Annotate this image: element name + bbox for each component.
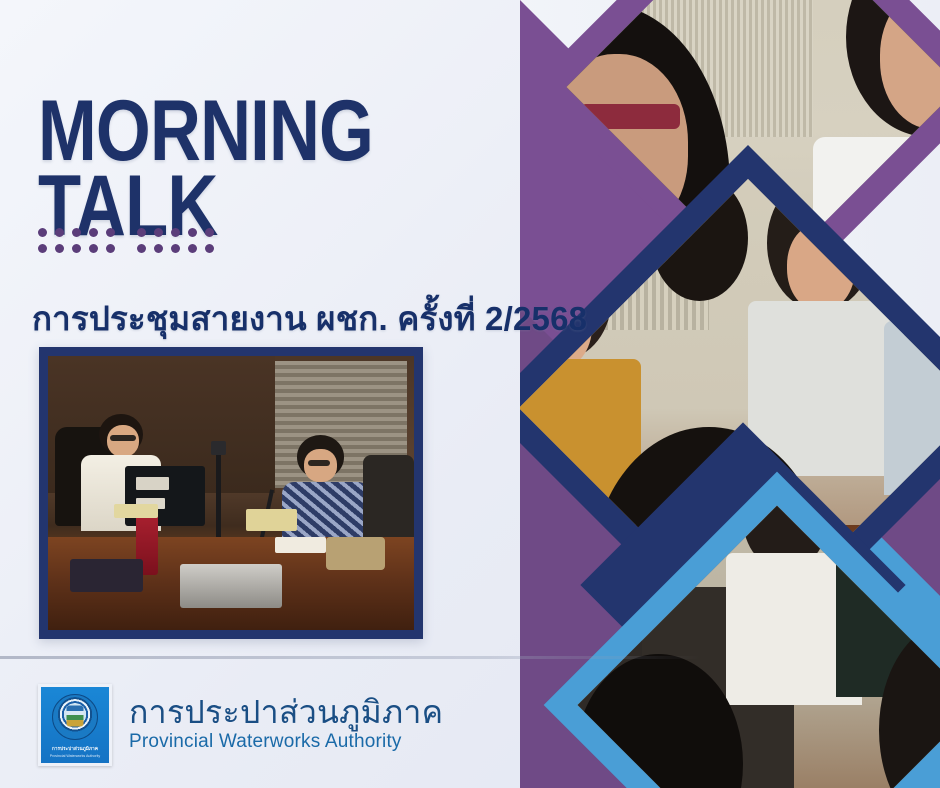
dot xyxy=(55,228,64,237)
photo-collage-panel xyxy=(520,0,940,788)
brand-name-english: Provincial Waterworks Authority xyxy=(129,730,443,754)
page-title: MORNING TALK xyxy=(38,18,373,321)
brand-text-block: การประปาส่วนภูมิภาค Provincial Waterwork… xyxy=(129,696,443,753)
dot xyxy=(38,244,47,253)
pwa-logo-icon: การประปาส่วนภูมิภาค Provincial Waterwork… xyxy=(38,684,112,766)
pwa-seal-icon xyxy=(52,694,98,740)
dot xyxy=(154,228,163,237)
main-photo xyxy=(48,356,414,630)
footer-branding: การประปาส่วนภูมิภาค Provincial Waterwork… xyxy=(38,684,443,766)
dot xyxy=(72,228,81,237)
footer-divider xyxy=(0,656,700,659)
dot xyxy=(137,244,146,253)
dot xyxy=(106,244,115,253)
dot-group-right xyxy=(137,228,214,253)
poster-canvas: MORNING TALK การประชุมส xyxy=(0,0,940,788)
dot xyxy=(188,228,197,237)
dot xyxy=(188,244,197,253)
dot-group-left xyxy=(38,228,115,253)
dot xyxy=(137,228,146,237)
logo-caption-th: การประปาส่วนภูมิภาค xyxy=(52,746,98,753)
dot xyxy=(89,244,98,253)
dot xyxy=(38,228,47,237)
logo-caption-en: Provincial Waterworks Authority xyxy=(50,754,100,758)
dot xyxy=(171,228,180,237)
dot xyxy=(205,228,214,237)
dot xyxy=(89,228,98,237)
event-subtitle: การประชุมสายงาน ผชก. ครั้งที่ 2/2568 xyxy=(32,292,587,345)
dot xyxy=(171,244,180,253)
dot xyxy=(154,244,163,253)
dot xyxy=(55,244,64,253)
dot xyxy=(72,244,81,253)
brand-name-thai: การประปาส่วนภูมิภาค xyxy=(129,696,443,730)
dot xyxy=(205,244,214,253)
main-photo-frame xyxy=(39,347,423,639)
dot-decoration xyxy=(38,228,214,253)
dot xyxy=(106,228,115,237)
